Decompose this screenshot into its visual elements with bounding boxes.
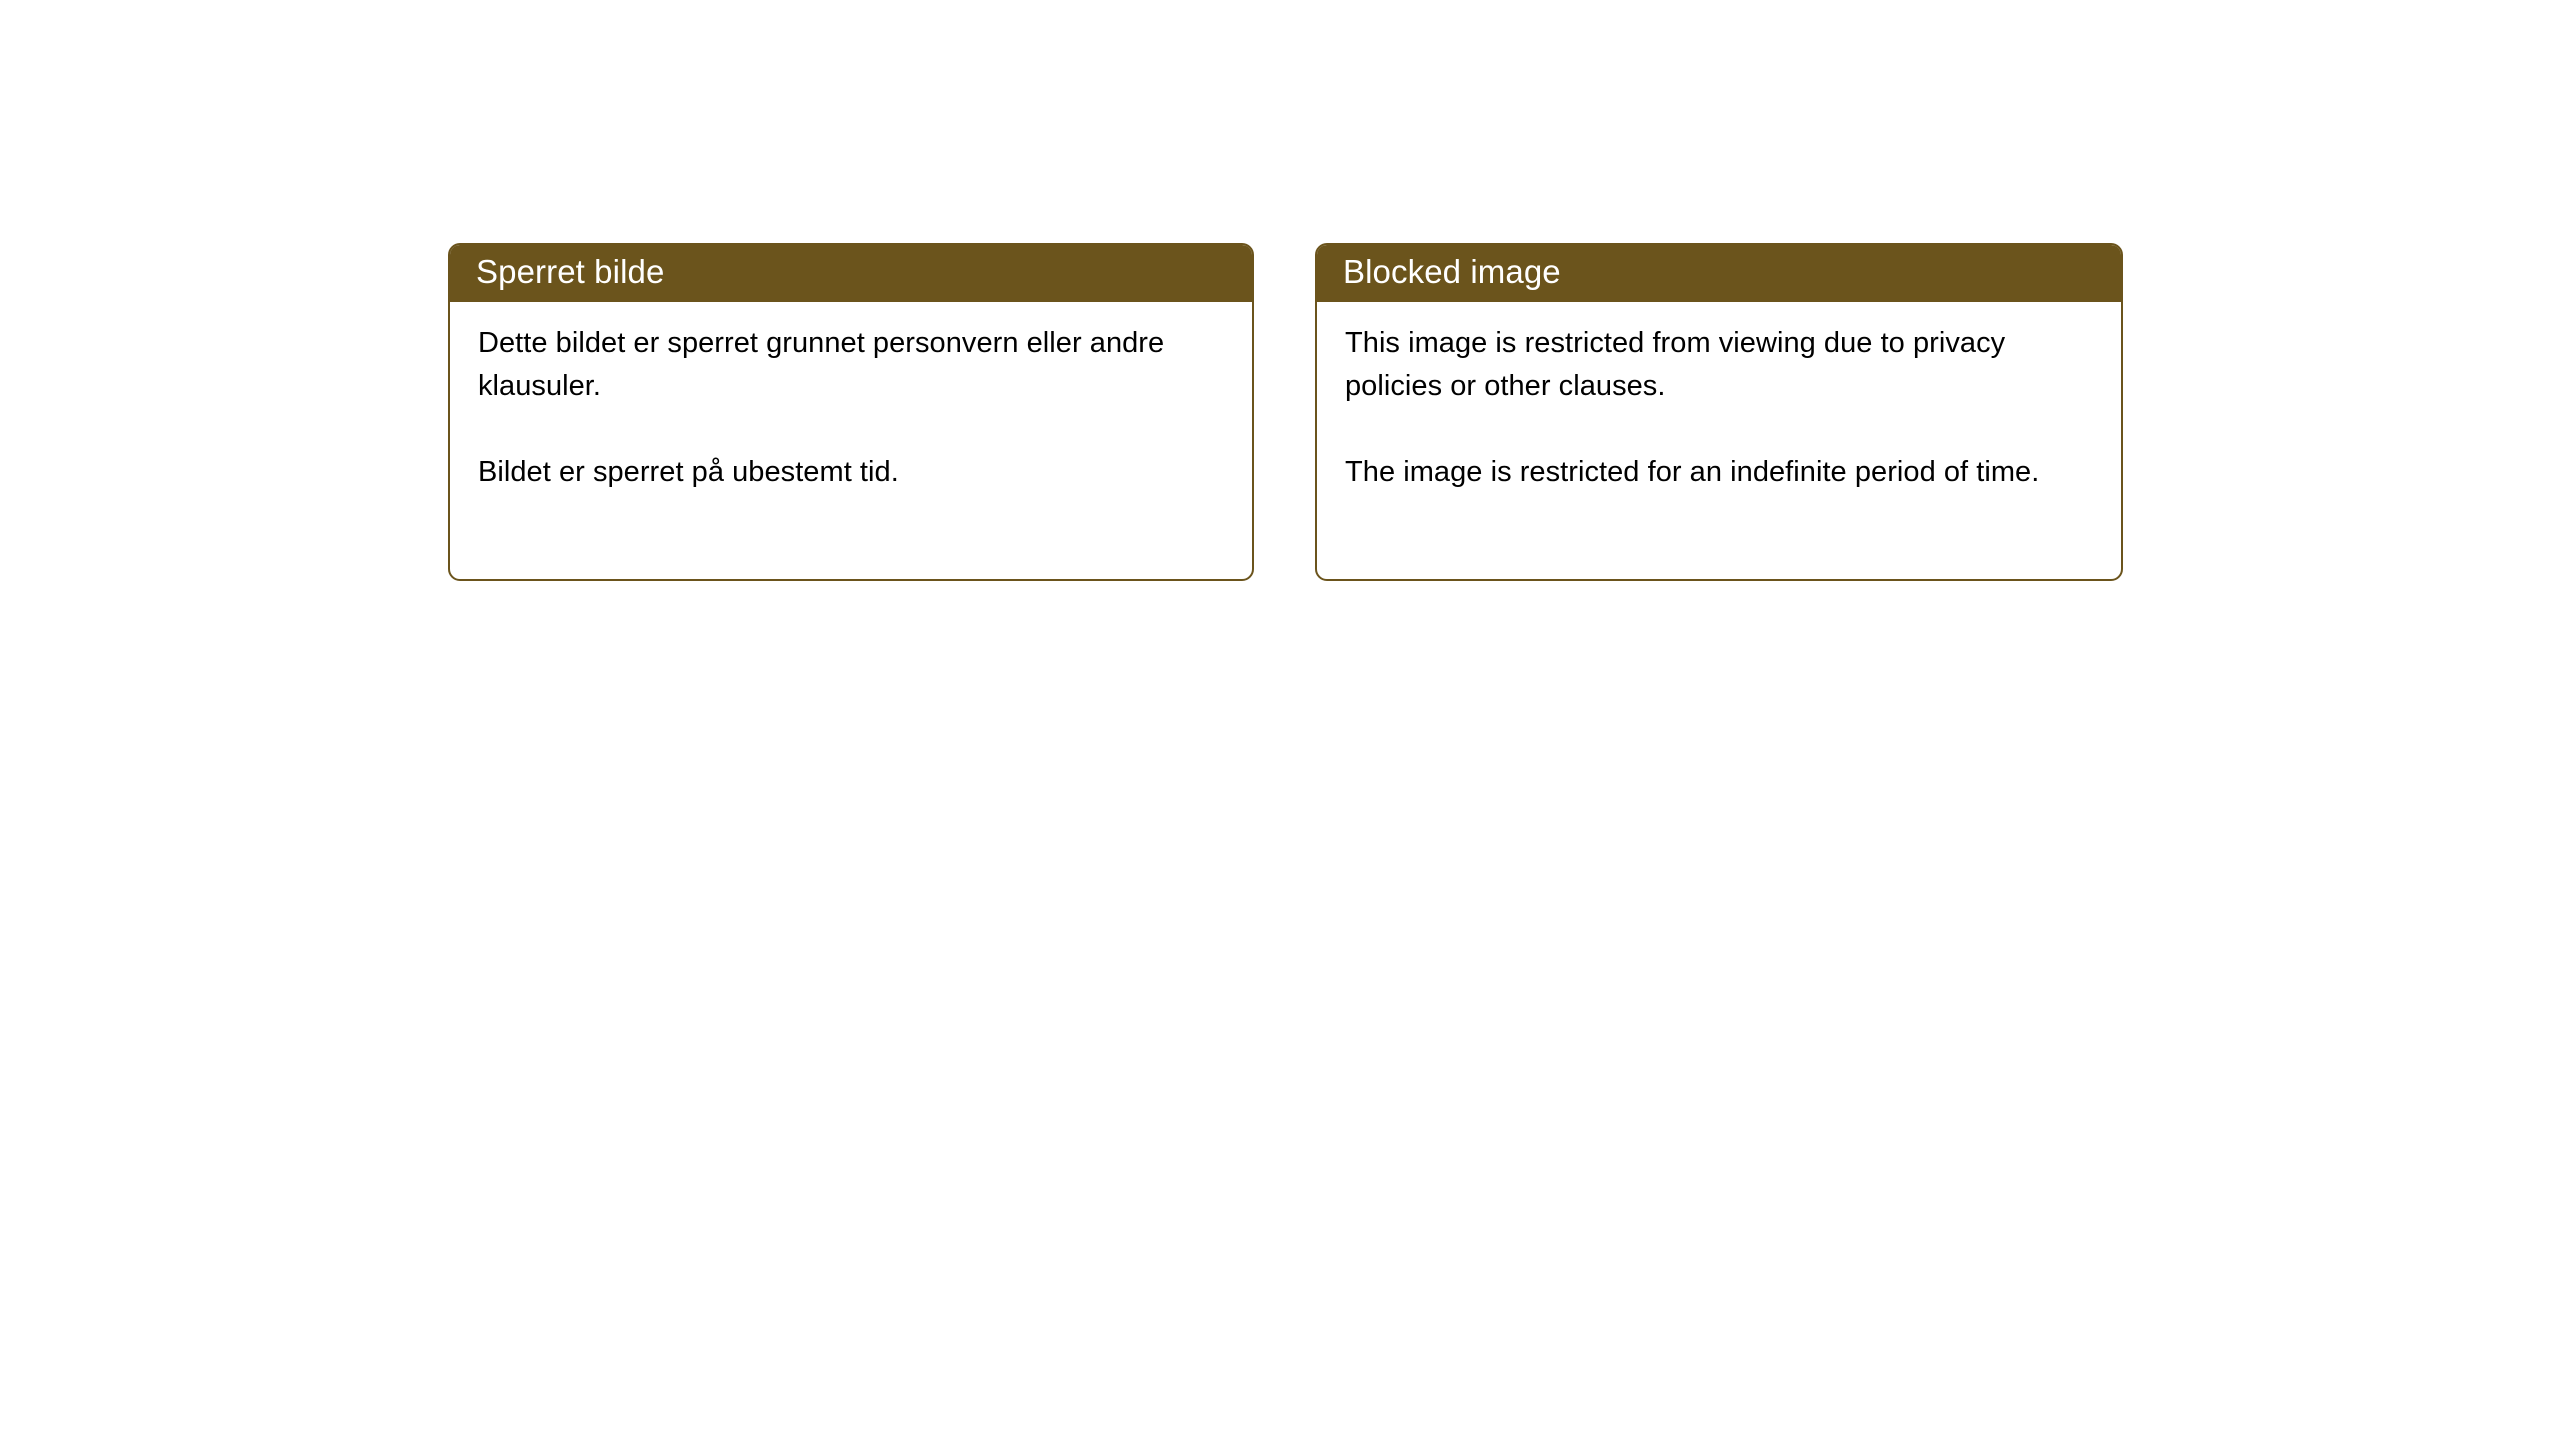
notice-paragraph-duration-norwegian: Bildet er sperret på ubestemt tid. <box>478 451 1228 494</box>
notice-title-english: Blocked image <box>1343 255 1561 288</box>
notice-paragraph-reason-norwegian: Dette bildet er sperret grunnet personve… <box>478 322 1228 408</box>
notice-title-norwegian: Sperret bilde <box>476 255 664 288</box>
notice-header-norwegian: Sperret bilde <box>448 243 1254 302</box>
notice-header-english: Blocked image <box>1315 243 2123 302</box>
notice-body-english: This image is restricted from viewing du… <box>1317 302 2121 494</box>
notice-paragraph-reason-english: This image is restricted from viewing du… <box>1345 322 2097 408</box>
notice-body-norwegian: Dette bildet er sperret grunnet personve… <box>450 302 1252 494</box>
blocked-image-notice-english: Blocked image This image is restricted f… <box>1315 243 2123 581</box>
page-canvas: Sperret bilde Dette bildet er sperret gr… <box>0 0 2560 1440</box>
notice-paragraph-duration-english: The image is restricted for an indefinit… <box>1345 451 2097 494</box>
blocked-image-notice-norwegian: Sperret bilde Dette bildet er sperret gr… <box>448 243 1254 581</box>
